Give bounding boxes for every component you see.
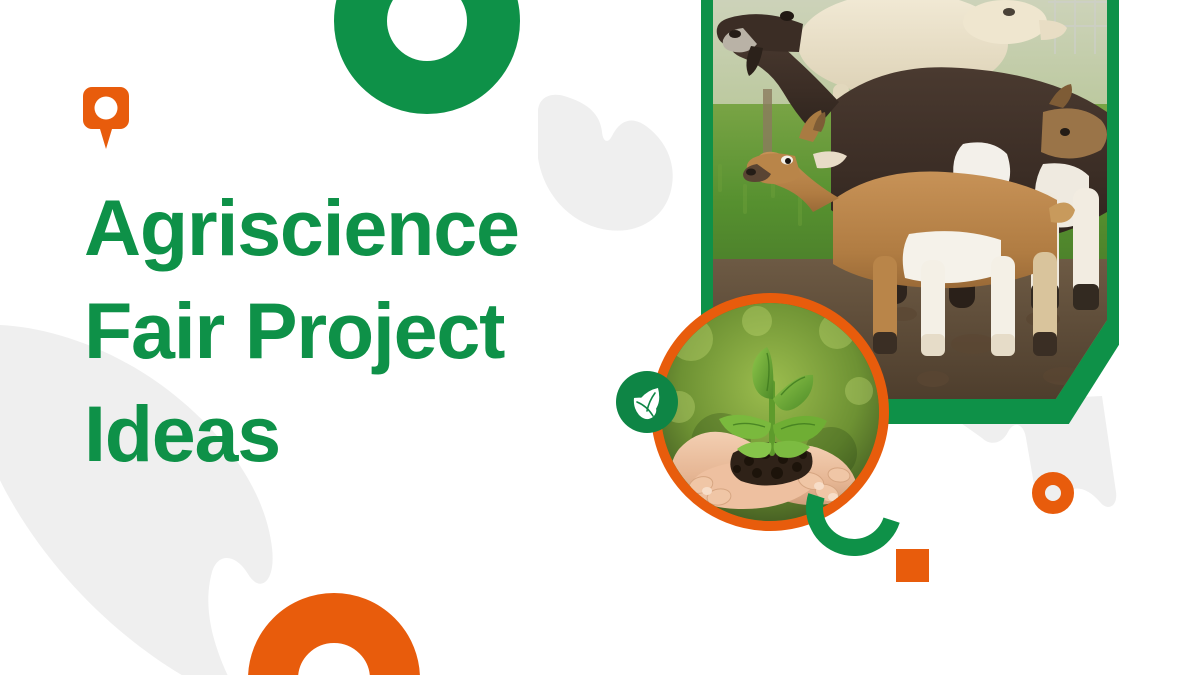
title-line-1: Agriscience <box>84 176 644 279</box>
green-ring-decoration <box>334 0 520 114</box>
location-pin-icon <box>82 86 130 150</box>
page-title: Agriscience Fair Project Ideas <box>84 176 644 485</box>
orange-square-decoration <box>896 549 929 582</box>
title-line-3: Ideas <box>84 382 644 485</box>
poster-canvas: Agriscience Fair Project Ideas <box>0 0 1200 675</box>
orange-ring-decoration <box>248 593 420 675</box>
title-line-2: Fair Project <box>84 279 644 382</box>
orange-small-ring-decoration <box>1032 472 1074 514</box>
